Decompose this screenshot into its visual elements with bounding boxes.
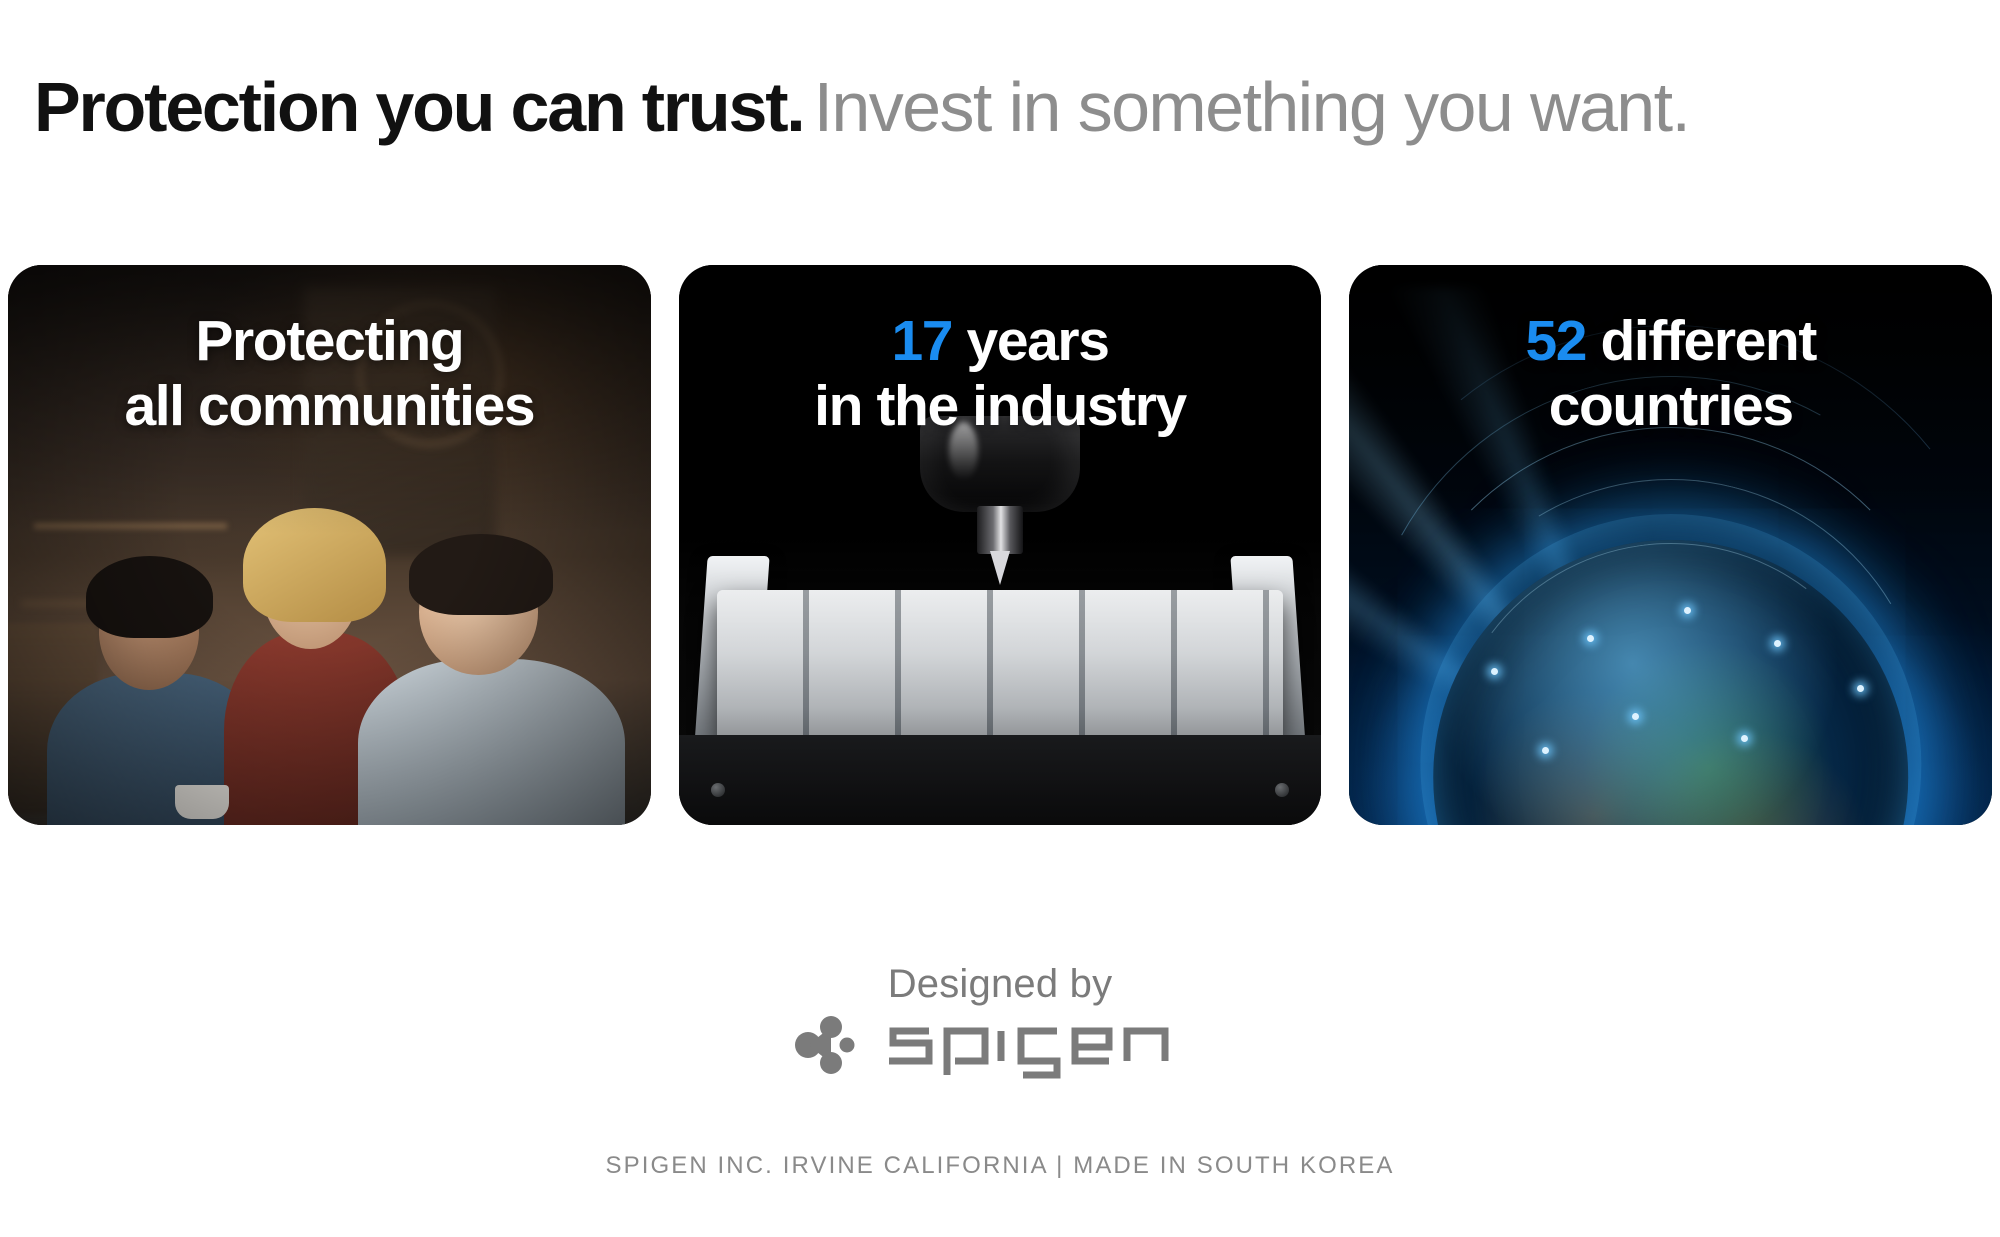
- cnc-collet: [977, 506, 1023, 554]
- caption-line-1-rest: different: [1586, 309, 1816, 373]
- cnc-base: [679, 735, 1322, 825]
- caption-line-1: 52 different: [1349, 309, 1992, 374]
- card-caption-countries: 52 different countries: [1349, 309, 1992, 439]
- footer-legal-text: SPIGEN INC. IRVINE CALIFORNIA | MADE IN …: [0, 1152, 2000, 1180]
- caption-line-1-rest: years: [952, 309, 1108, 373]
- cnc-bed: [717, 590, 1283, 741]
- feature-card-communities[interactable]: Protecting all communities: [8, 265, 651, 825]
- spigen-logo-lockup: [793, 1009, 1207, 1081]
- brand-block: Designed by: [0, 962, 2000, 1081]
- cnc-cutting-bit: [990, 551, 1010, 585]
- spigen-wordmark: [877, 1009, 1207, 1081]
- caption-line-2: all communities: [8, 374, 651, 439]
- caption-line-1: Protecting: [8, 309, 651, 374]
- headline-secondary: Invest in something you want.: [814, 68, 1690, 146]
- designed-by-label: Designed by: [888, 962, 1113, 1007]
- feature-card-row: Protecting all communities 17 years: [8, 265, 1992, 825]
- page-headline: Protection you can trust.Invest in somet…: [34, 72, 1689, 142]
- marketing-banner: Protection you can trust.Invest in somet…: [0, 0, 2000, 1237]
- cnc-screw-left: [711, 783, 725, 797]
- card-caption-experience: 17 years in the industry: [679, 309, 1322, 439]
- feature-card-countries[interactable]: 52 different countries: [1349, 265, 1992, 825]
- caption-line-2: countries: [1349, 374, 1992, 439]
- feature-card-experience[interactable]: 17 years in the industry: [679, 265, 1322, 825]
- caption-line-2: in the industry: [679, 374, 1322, 439]
- spigen-molecule-icon: [793, 1015, 861, 1075]
- headline-primary: Protection you can trust.: [34, 68, 804, 146]
- stat-number-countries: 52: [1525, 309, 1586, 373]
- cnc-bed-tiles: [717, 590, 1283, 741]
- stat-number-years: 17: [891, 309, 952, 373]
- caption-line-1: 17 years: [679, 309, 1322, 374]
- card-caption-communities: Protecting all communities: [8, 309, 651, 439]
